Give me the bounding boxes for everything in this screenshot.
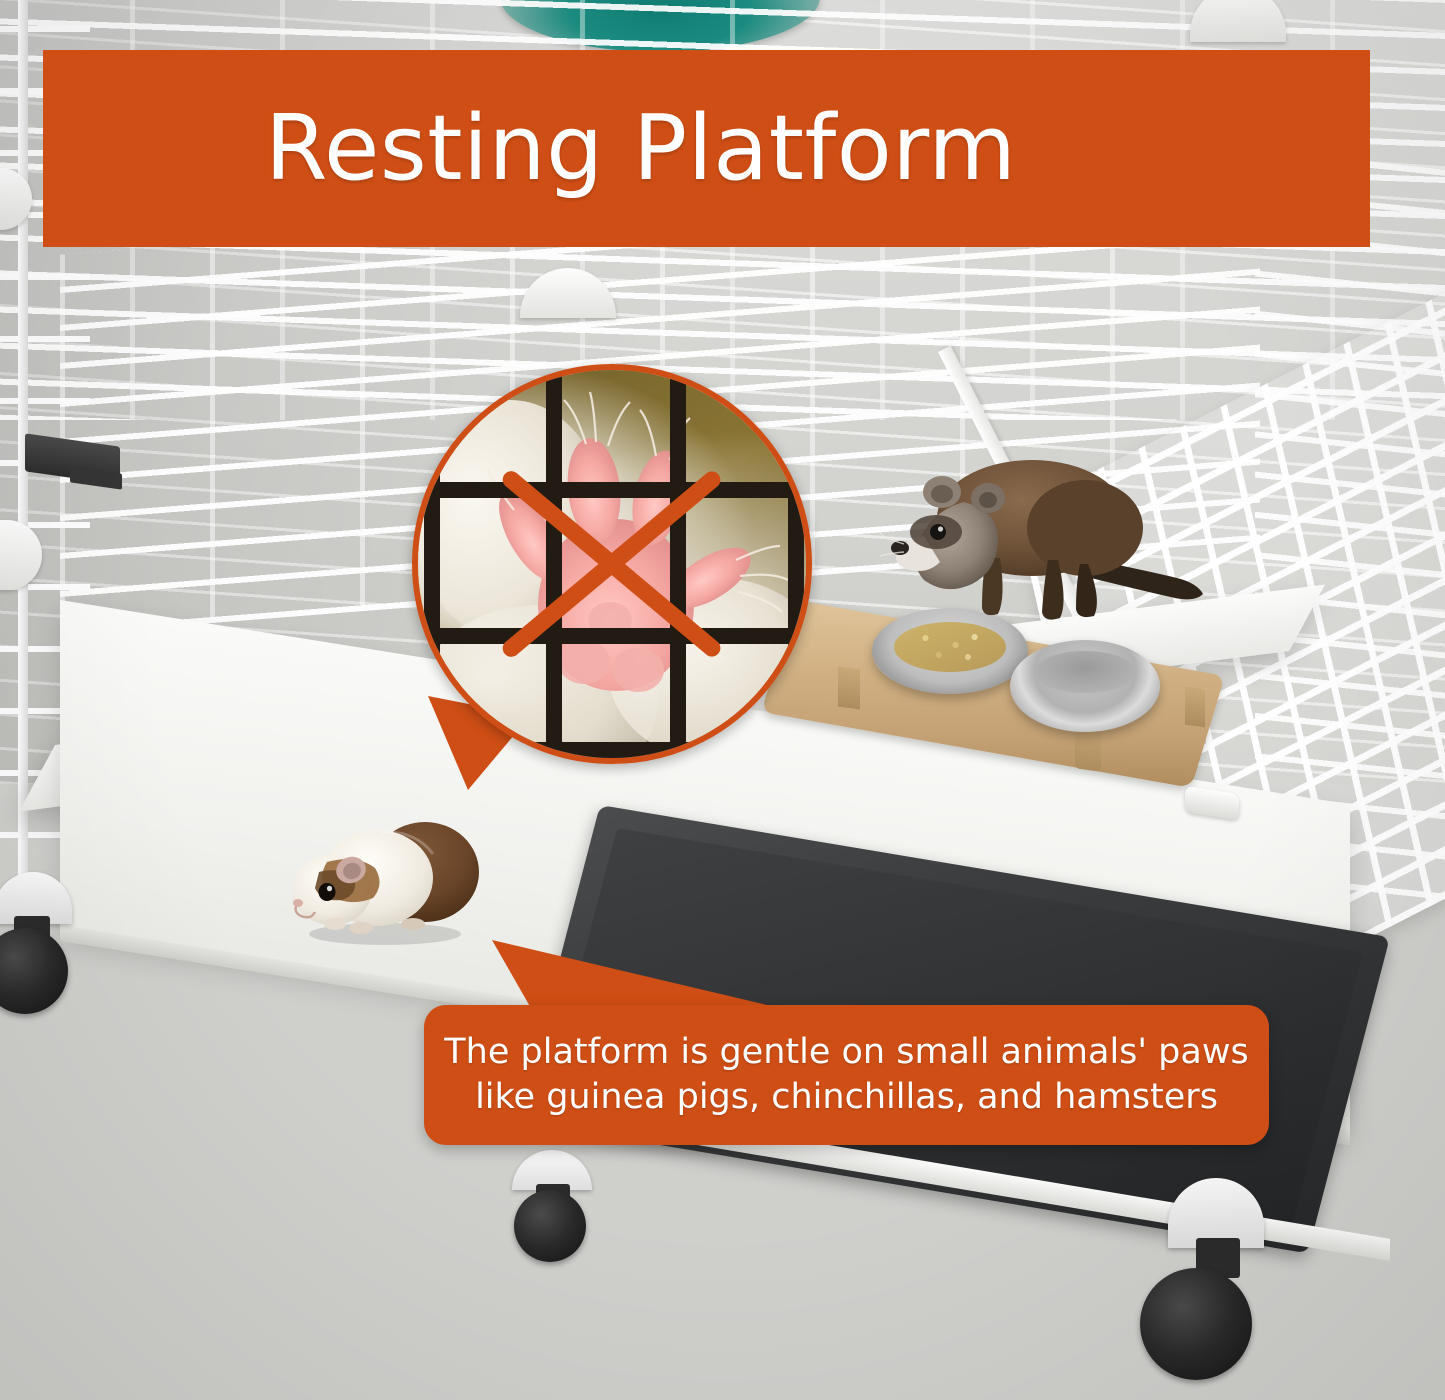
stand-leg-left	[838, 666, 860, 709]
cross-out-icon	[418, 370, 806, 758]
paw-on-wire-photo	[418, 370, 806, 758]
page-title: Resting Platform	[265, 104, 1016, 194]
wire-floor-warning-callout	[412, 364, 812, 764]
guinea-pig	[285, 808, 485, 948]
caption-line-1: The platform is gentle on small animals'…	[444, 1030, 1248, 1075]
corner-cap-top-right	[1190, 0, 1286, 42]
caption-line-2: like guinea pigs, chinchillas, and hamst…	[475, 1075, 1218, 1120]
callout-circle	[412, 364, 812, 764]
water-bowl	[1010, 640, 1160, 732]
title-banner: Resting Platform	[43, 50, 1370, 247]
stand-leg-far	[1185, 687, 1205, 728]
caption-callout: The platform is gentle on small animals'…	[424, 1005, 1269, 1145]
ferret	[880, 440, 1220, 650]
product-feature-image: Resting Platform	[0, 0, 1445, 1400]
